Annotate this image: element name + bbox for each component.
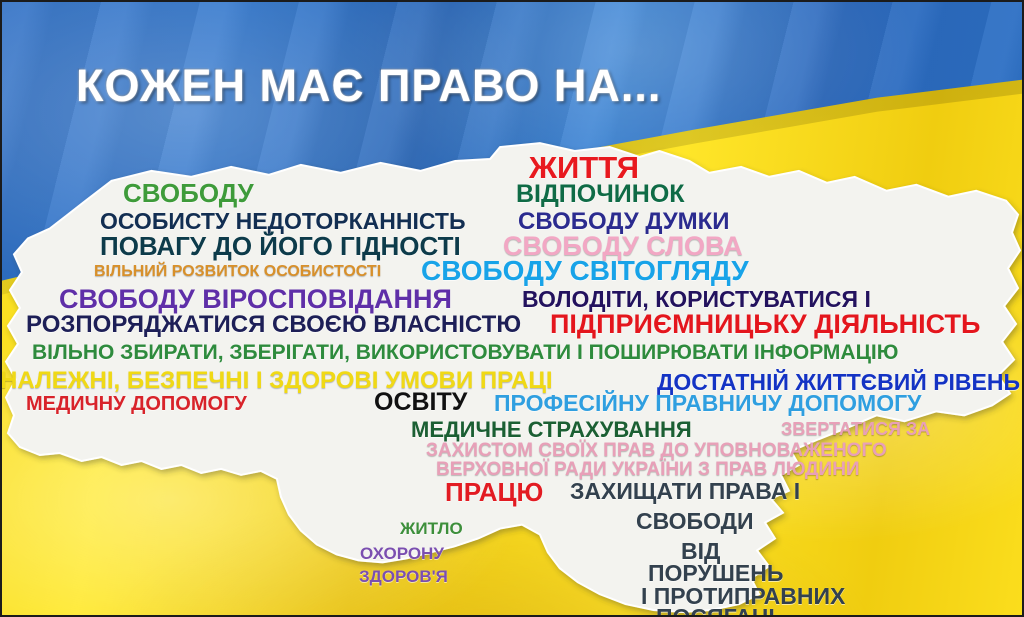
right-word-porushen: ПОРУШЕНЬ: [648, 562, 783, 585]
right-word-medychne-strakh: МЕДИЧНЕ СТРАХУВАННЯ: [411, 419, 692, 441]
right-word-zvertatysia-za: ЗВЕРТАТИСЯ ЗА: [781, 420, 930, 438]
poster-canvas: КОЖЕН МАЄ ПРАВО НА... ЖИТТЯСВОБОДУВІДПОЧ…: [0, 0, 1024, 617]
right-word-svobodu-svitohliadu: СВОБОДУ СВІТОГЛЯДУ: [421, 257, 749, 285]
right-word-pratsiu: ПРАЦЮ: [445, 479, 543, 505]
right-word-profesiinu: ПРОФЕСІЙНУ ПРАВНИЧУ ДОПОМОГУ: [494, 392, 921, 415]
right-word-zhytlo: ЖИТЛО: [400, 520, 463, 537]
right-word-svobodu-1: СВОБОДУ: [123, 180, 254, 206]
right-word-osvitu: ОСВІТУ: [374, 390, 467, 415]
right-word-pidpryiemnytsku: ПІДПРИЄМНИЦЬКУ ДІЯЛЬНІСТЬ: [550, 311, 980, 338]
right-word-volodity: ВОЛОДІТИ, КОРИСТУВАТИСЯ І: [522, 288, 871, 311]
right-word-zdorovia: ЗДОРОВ'Я: [359, 568, 448, 585]
rights-word-cloud: ЖИТТЯСВОБОДУВІДПОЧИНОКОСОБИСТУ НЕДОТОРКА…: [2, 2, 1022, 615]
right-word-posiahan: ПОСЯГАНЬ: [656, 606, 785, 617]
right-word-okhoronu: ОХОРОНУ: [360, 545, 444, 562]
right-word-povahu: ПОВАГУ ДО ЙОГО ГІДНОСТІ: [100, 233, 461, 259]
right-word-rozporiadzhatysia: РОЗПОРЯДЖАТИСЯ СВОЄЮ ВЛАСНІСТЮ: [26, 313, 521, 337]
right-word-zakhyshchaty: ЗАХИЩАТИ ПРАВА І: [570, 480, 800, 503]
right-word-svobody: СВОБОДИ: [636, 510, 754, 533]
right-word-zakhystom: ЗАХИСТОМ СВОЇХ ПРАВ ДО УПОВНОВАЖЕНОГО: [426, 441, 887, 460]
right-word-nalezhni: НАЛЕЖНІ, БЕЗПЕЧНІ І ЗДОРОВІ УМОВИ ПРАЦІ: [0, 369, 553, 393]
right-word-vilnyi-rozvytok: ВІЛЬНИЙ РОЗВИТОК ОСОБИСТОСТІ: [94, 264, 381, 280]
right-word-svobodu-viro: СВОБОДУ ВІРОСПОВІДАННЯ: [59, 286, 452, 313]
right-word-osobystu: ОСОБИСТУ НЕДОТОРКАННІСТЬ: [100, 210, 465, 233]
right-word-vidpochynok: ВІДПОЧИНОК: [516, 182, 685, 207]
right-word-vilno-zbyraty: ВІЛЬНО ЗБИРАТИ, ЗБЕРІГАТИ, ВИКОРИСТОВУВА…: [32, 342, 898, 363]
right-word-zhyttia: ЖИТТЯ: [529, 152, 639, 183]
right-word-medychnu-dopomohu: МЕДИЧНУ ДОПОМОГУ: [26, 394, 247, 414]
